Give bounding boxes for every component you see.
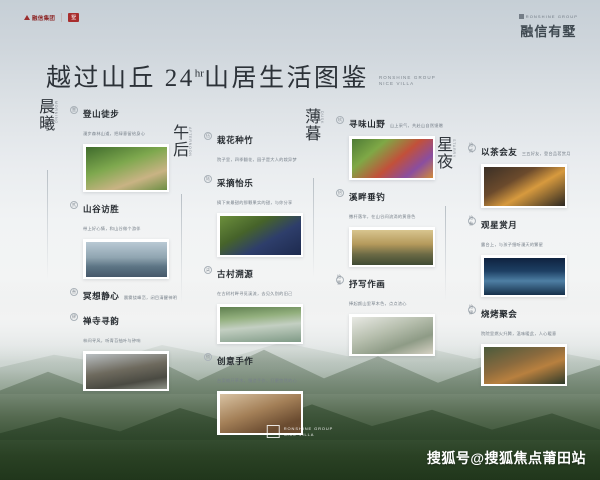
item-desc: 台案摊开草木，慢造手作，打磨悠然的心 xyxy=(217,378,297,383)
list-item[interactable]: 玖 寻味山野 山上采气，共赴山自然馈赠 xyxy=(336,114,444,180)
item-thumbnail[interactable] xyxy=(349,136,435,180)
column-label-3: 星夜 xyxy=(434,136,451,170)
item-thumbnail[interactable] xyxy=(217,213,303,257)
item-desc: 山上采气，共赴山自然馈赠 xyxy=(390,123,443,128)
list-item[interactable]: 壹 登山徒步 漫步森林山道，把绿意留给身心 xyxy=(70,104,178,192)
logo-divider xyxy=(61,13,62,22)
item-title: 古村溯源 xyxy=(217,269,253,279)
item-desc: 带上好心情，和山谷做个游伴 xyxy=(83,226,141,231)
column-rule xyxy=(181,194,182,304)
column-pinyin-2: DUSK xyxy=(320,111,324,124)
item-thumbnail[interactable] xyxy=(481,344,567,386)
list-item[interactable]: 肆 禅寺寻韵 林间寻风，听青苔抽叶与钟响 xyxy=(70,311,178,391)
list-item[interactable]: 捌 创意手作 台案摊开草木，慢造手作，打磨悠然的心 xyxy=(204,351,312,435)
list-item[interactable]: 拾肆 烧烤聚会 院院里燃火升腾，温味暖此，人心暖意 xyxy=(468,304,576,386)
item-desc: 露台上，与孩子细听漫天的繁星 xyxy=(481,242,543,247)
brand-en-topright: RONSHINE GROUP xyxy=(519,14,578,19)
item-index-badge: 柒 xyxy=(204,266,212,274)
poster-title-row: 越过山丘 24hr山居生活图鉴 RONSHINE GROUP NICE VILL… xyxy=(46,58,436,94)
item-thumbnail[interactable] xyxy=(349,227,435,267)
title-superscript: hr xyxy=(195,68,204,80)
list-item[interactable]: 伍 栽花种竹 院子里，四季翻花，园子是大人的栽异梦 xyxy=(204,130,312,166)
item-thumbnail[interactable] xyxy=(349,314,435,356)
column-items-0: 壹 登山徒步 漫步森林山道，把绿意留给身心 贰 山谷访胜 带上好心情，和山谷做个… xyxy=(70,104,178,398)
column-pinyin-3: STARRY xyxy=(452,139,456,158)
list-item[interactable]: 拾贰 以茶会友 三五好友，登台品茗赏月 xyxy=(468,142,576,208)
item-title: 栽花种竹 xyxy=(217,135,253,145)
ronshine-mark-icon: 融信集团 xyxy=(24,14,55,22)
item-desc: 院子里，四季翻花，园子是大人的栽异梦 xyxy=(217,157,297,162)
item-thumbnail[interactable] xyxy=(481,255,567,297)
item-index-badge: 叁 xyxy=(70,288,78,296)
page-title: 越过山丘 24hr山居生活图鉴 xyxy=(46,58,369,94)
item-title: 抒写作画 xyxy=(349,279,385,289)
column-pinyin-0: MORNING xyxy=(54,101,58,124)
item-thumbnail[interactable] xyxy=(83,239,169,279)
list-item[interactable]: 贰 山谷访胜 带上好心情，和山谷做个游伴 xyxy=(70,199,178,279)
column-label-1: 午后 xyxy=(170,124,187,158)
item-index-badge: 肆 xyxy=(70,313,78,321)
item-title: 冥想静心 xyxy=(83,291,119,301)
item-index-badge: 陆 xyxy=(204,175,212,183)
title-sub-line1: RONSHINE GROUP xyxy=(379,75,436,82)
item-index-badge: 贰 xyxy=(70,201,78,209)
item-desc: 林间寻风，听青苔抽叶与钟响 xyxy=(83,338,141,343)
item-desc: 三五好友，登台品茗赏月 xyxy=(522,151,571,156)
brand-cn-topright: 融信有墅 xyxy=(520,24,576,39)
column-items-1: 伍 栽花种竹 院子里，四季翻花，园子是大人的栽异梦 陆 采摘怡乐 摘下来最甜的那… xyxy=(204,130,312,442)
list-item[interactable]: 陆 采摘怡乐 摘下来最甜的那颗果实的甜，与你分享 xyxy=(204,173,312,257)
list-item[interactable]: 柒 古村溯源 在古树村畔寻觅溪流，去见久别的旧己 xyxy=(204,264,312,344)
column-items-3: 拾贰 以茶会友 三五好友，登台品茗赏月 拾叁 观星赏月 露台上，与孩子细听漫天的… xyxy=(468,142,576,393)
item-desc: 院院里燃火升腾，温味暖此，人心暖意 xyxy=(481,331,556,336)
item-desc: 摘下来最甜的那颗果实的甜，与你分享 xyxy=(217,200,292,205)
list-item[interactable]: 拾叁 观星赏月 露台上，与孩子细听漫天的繁星 xyxy=(468,215,576,297)
item-title: 登山徒步 xyxy=(83,109,119,119)
item-index-badge: 伍 xyxy=(204,132,212,140)
item-index-badge: 玖 xyxy=(336,116,344,124)
item-title: 禅寺寻韵 xyxy=(83,316,119,326)
poster-root: 融信集团 墅 RONSHINE GROUP 融信有墅 越过山丘 24hr山居生活… xyxy=(0,0,600,480)
brand-name-cn: 融信集团 xyxy=(32,14,55,22)
item-title: 采摘怡乐 xyxy=(217,178,253,188)
item-index-badge: 捌 xyxy=(204,353,212,361)
item-index-badge: 壹 xyxy=(70,106,78,114)
brand-chip: 墅 xyxy=(68,13,79,22)
item-index-badge: 拾肆 xyxy=(468,306,476,314)
column-label-2: 薄暮 xyxy=(302,108,319,142)
item-title: 观星赏月 xyxy=(481,220,517,230)
item-index-badge: 拾叁 xyxy=(468,217,476,225)
item-thumbnail[interactable] xyxy=(217,304,303,344)
item-desc: 在古树村畔寻觅溪流，去见久别的旧己 xyxy=(217,291,292,296)
item-thumbnail[interactable] xyxy=(481,164,567,208)
item-thumbnail[interactable] xyxy=(83,144,169,192)
item-title: 以茶会友 xyxy=(481,147,517,157)
triangle-icon xyxy=(24,15,30,20)
item-title: 创意手作 xyxy=(217,356,253,366)
title-subtitle: RONSHINE GROUP NICE VILLA xyxy=(379,75,436,95)
column-pinyin-1: AFTERNOON xyxy=(188,127,192,157)
item-index-badge: 拾贰 xyxy=(468,144,476,152)
brand-logo-topleft: 融信集团 墅 xyxy=(24,13,79,22)
item-title: 溪畔垂钓 xyxy=(349,192,385,202)
item-thumbnail[interactable] xyxy=(83,351,169,391)
item-title: 山谷访胜 xyxy=(83,204,119,214)
brand-bottom-line1: RONSHINE GROUP xyxy=(284,426,334,431)
column-label-0: 晨曦 xyxy=(36,98,53,132)
item-index-badge: 拾壹 xyxy=(336,276,344,284)
watermark: 搜狐号@搜狐焦点莆田站 xyxy=(427,448,586,468)
brand-logo-topright: RONSHINE GROUP 融信有墅 xyxy=(519,14,578,41)
item-title: 烧烤聚会 xyxy=(481,309,517,319)
list-item[interactable]: 叁 冥想静心 晨雾绕峰峦，闭目清醒神明 xyxy=(70,286,178,304)
column-rule xyxy=(47,170,48,280)
logo-frame-icon xyxy=(267,425,280,438)
brand-bottom-line2: NICE VILLA xyxy=(284,432,334,437)
square-mark-icon xyxy=(519,14,524,19)
item-desc: 撒杆落竿，在山谷间流淌的黄昏色 xyxy=(349,214,416,219)
item-desc: 捧起颜山里草木色，点点浓心 xyxy=(349,301,407,306)
column-items-2: 玖 寻味山野 山上采气，共赴山自然馈赠 拾 溪畔垂钓 撒杆落竿，在山谷间流淌的黄… xyxy=(336,114,444,363)
item-index-badge: 拾 xyxy=(336,189,344,197)
title-sub-line2: NICE VILLA xyxy=(379,81,436,88)
item-desc: 晨雾绕峰峦，闭目清醒神明 xyxy=(124,295,177,300)
brand-logo-bottom: RONSHINE GROUP NICE VILLA xyxy=(267,425,334,438)
item-title: 寻味山野 xyxy=(349,119,385,129)
list-item[interactable]: 拾壹 抒写作画 捧起颜山里草木色，点点浓心 xyxy=(336,274,444,356)
item-desc: 漫步森林山道，把绿意留给身心 xyxy=(83,131,145,136)
list-item[interactable]: 拾 溪畔垂钓 撒杆落竿，在山谷间流淌的黄昏色 xyxy=(336,187,444,267)
column-rule xyxy=(313,178,314,278)
column-rule xyxy=(445,206,446,301)
timeline-columns: 晨曦 MORNING 壹 登山徒步 漫步森林山道，把绿意留给身心 xyxy=(0,98,600,388)
